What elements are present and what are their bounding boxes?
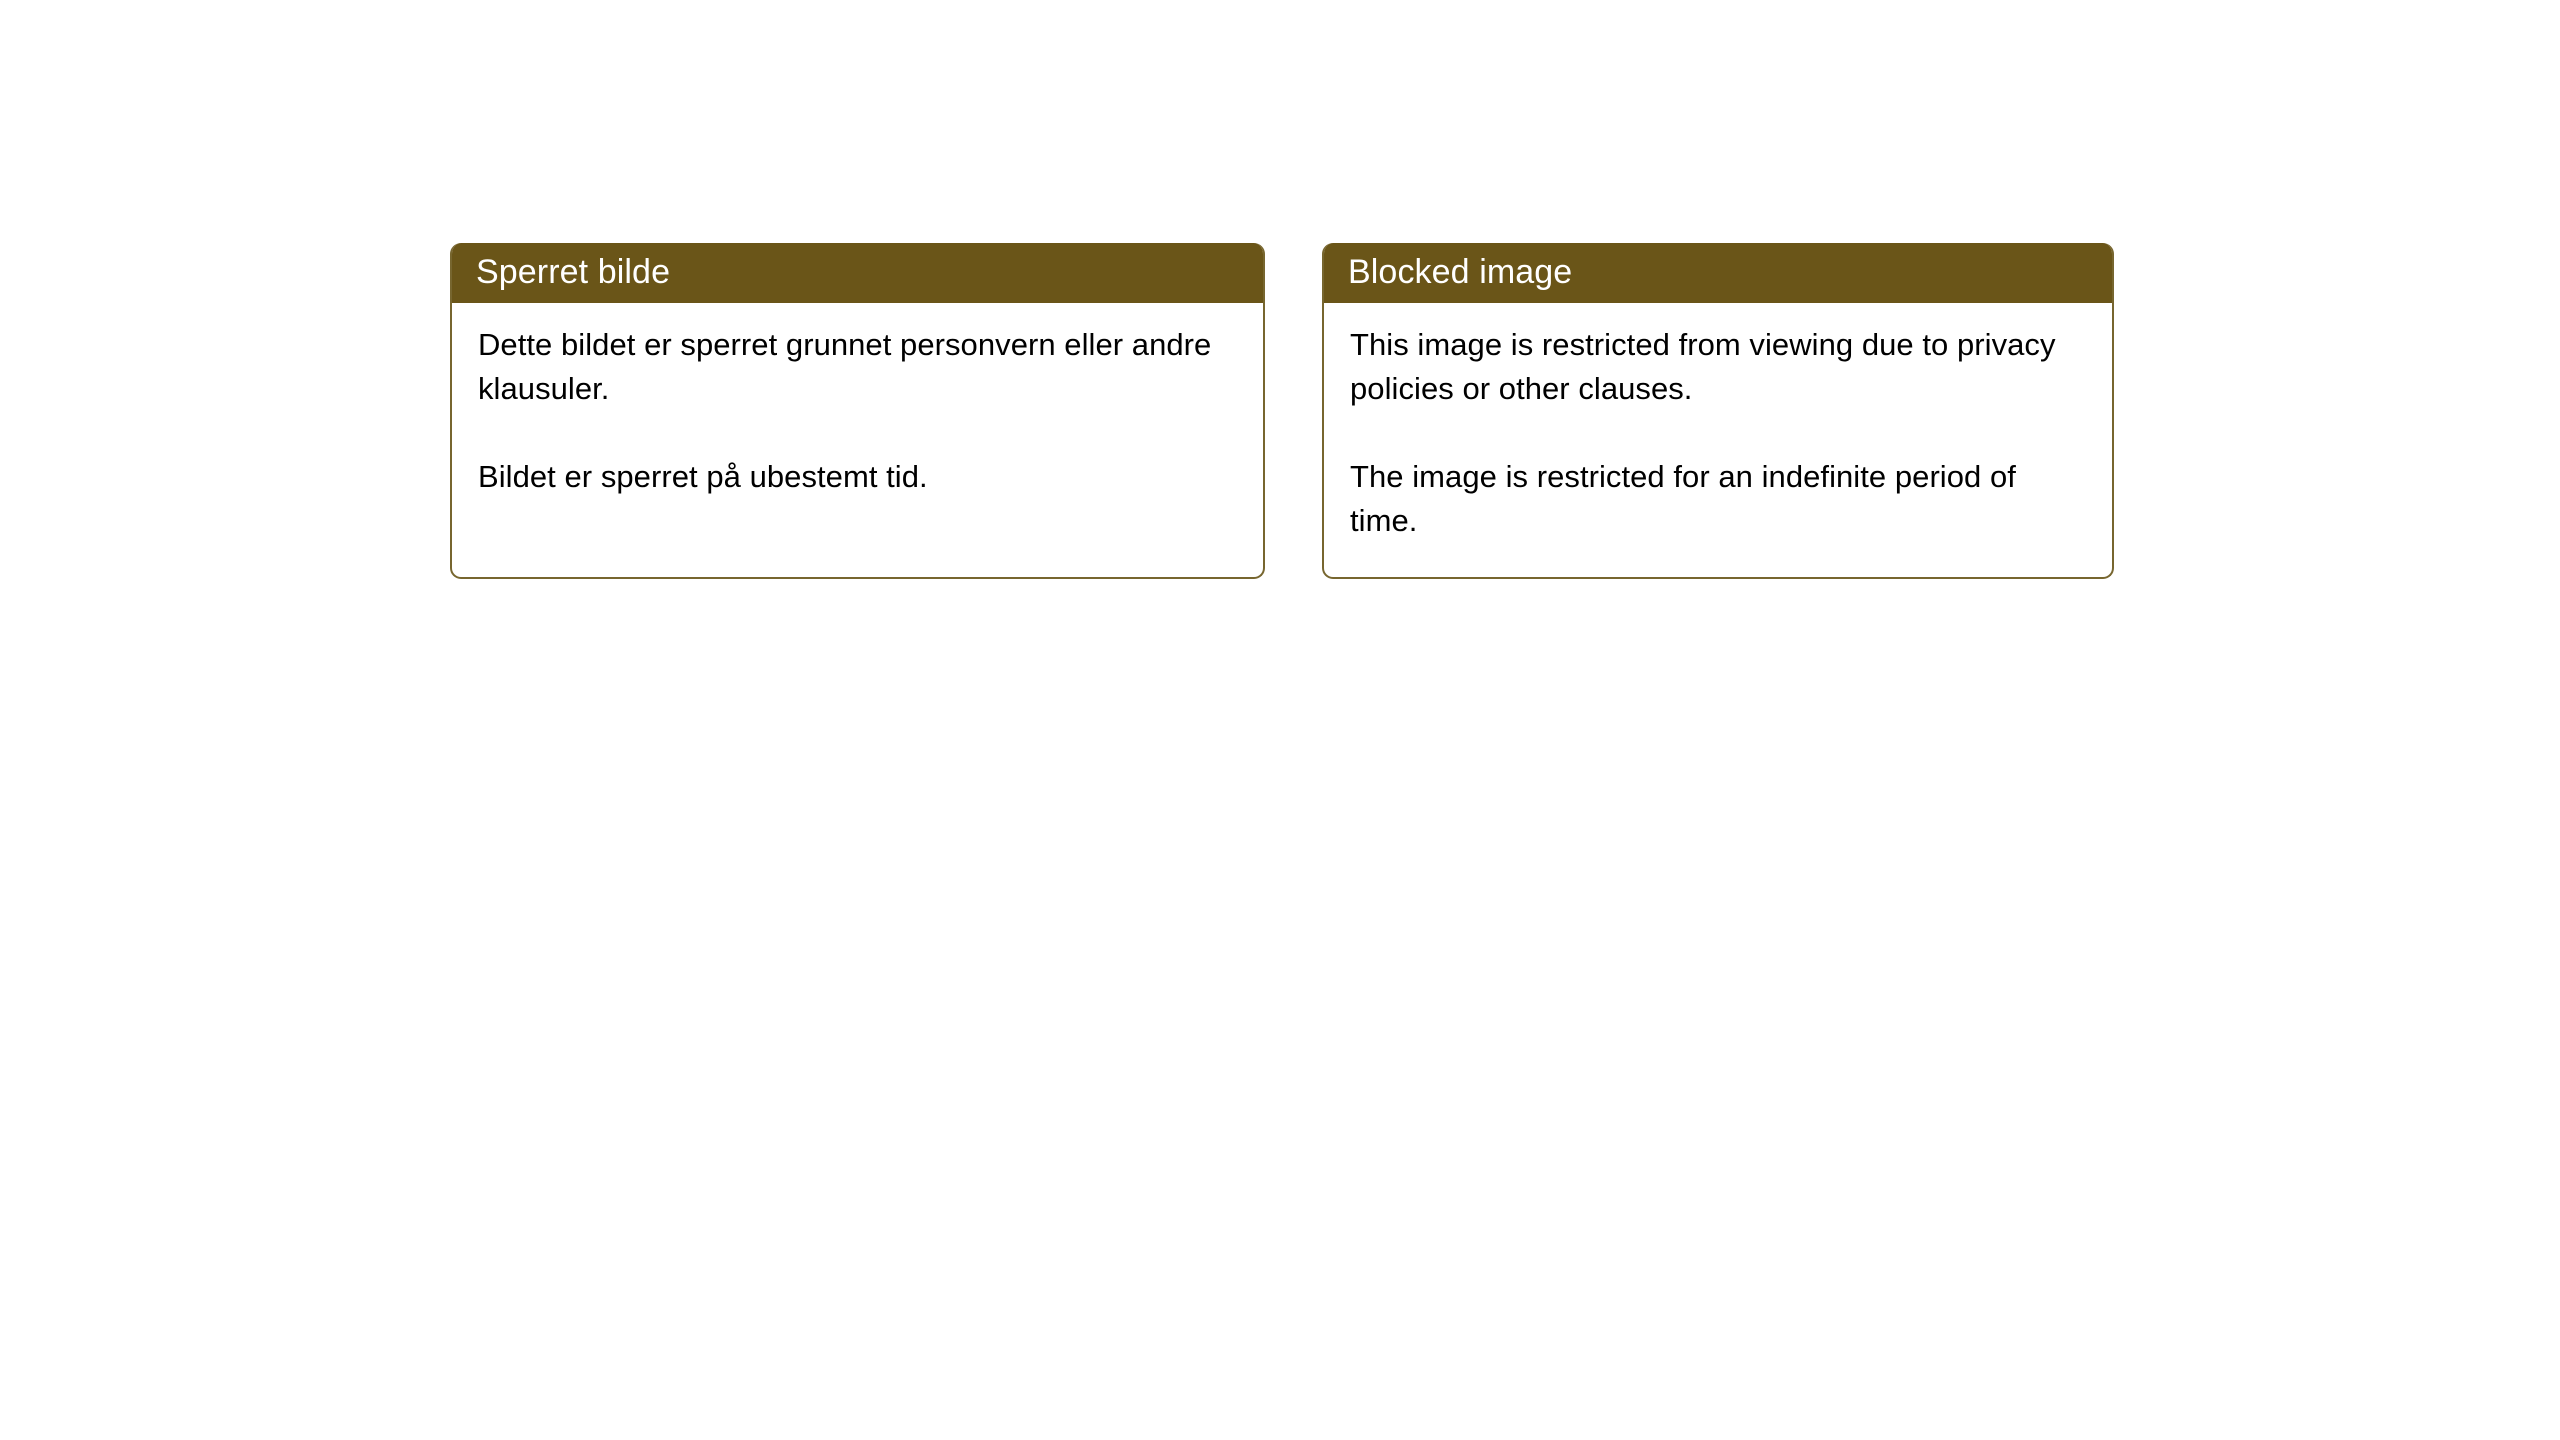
card-paragraph-norwegian-2: Bildet er sperret på ubestemt tid.: [478, 455, 1237, 499]
card-title-english: Blocked image: [1348, 255, 1572, 289]
blocked-image-card-english: Blocked image This image is restricted f…: [1322, 243, 2114, 579]
card-body-norwegian: Dette bildet er sperret grunnet personve…: [452, 303, 1263, 499]
card-header-norwegian: Sperret bilde: [450, 243, 1265, 303]
card-paragraph-english-1: This image is restricted from viewing du…: [1350, 323, 2086, 411]
paragraph-spacer-english: [1350, 411, 2086, 455]
card-title-norwegian: Sperret bilde: [476, 255, 670, 289]
paragraph-spacer-norwegian: [478, 411, 1237, 455]
card-paragraph-english-2: The image is restricted for an indefinit…: [1350, 455, 2086, 543]
blocked-image-card-norwegian: Sperret bilde Dette bildet er sperret gr…: [450, 243, 1265, 579]
card-body-english: This image is restricted from viewing du…: [1324, 303, 2112, 543]
page-root: Sperret bilde Dette bildet er sperret gr…: [0, 0, 2560, 1440]
card-header-english: Blocked image: [1322, 243, 2114, 303]
card-paragraph-norwegian-1: Dette bildet er sperret grunnet personve…: [478, 323, 1237, 411]
